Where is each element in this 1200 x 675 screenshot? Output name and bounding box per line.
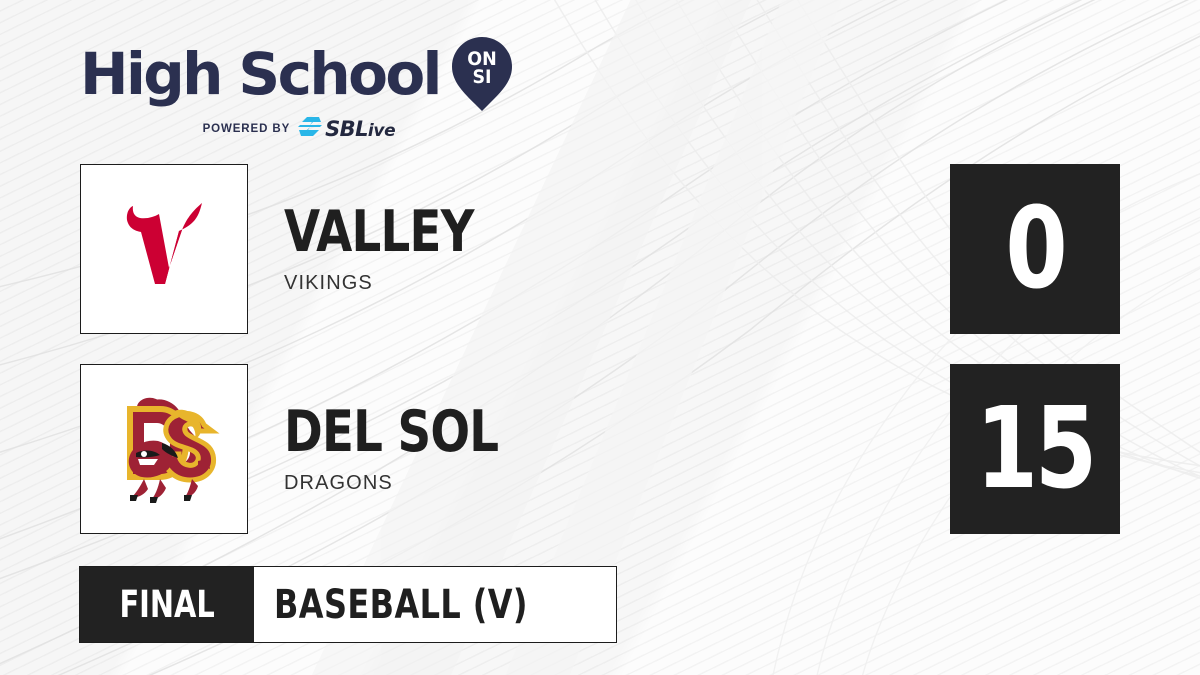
team-text-block: VALLEY VIKINGS: [284, 204, 515, 295]
game-status-bar: FINAL BASEBALL (V): [79, 566, 617, 643]
team-score-box: 0: [950, 164, 1120, 334]
team-row: VALLEY VIKINGS: [80, 164, 515, 334]
logo-row: High School ON SI: [80, 36, 510, 112]
sblive-soft: ive: [368, 121, 396, 141]
team-logo-card: [80, 364, 248, 534]
team-text-block: DEL SOL DRAGONS: [284, 404, 545, 495]
sblive-lockup: SBLive: [298, 116, 395, 142]
status-badge-label: FINAL: [119, 583, 214, 626]
sblive-s-mark-icon: [298, 116, 322, 142]
del-sol-dragons-ds-dragon-icon: [100, 385, 228, 513]
team-score-box: 15: [950, 364, 1120, 534]
high-school-on-si-logo: High School ON SI POWERED BY SBLive: [80, 36, 510, 139]
powered-by-label: POWERED BY: [203, 123, 291, 135]
sblive-wordmark: SBLive: [325, 119, 395, 140]
scoreboard-graphic: High School ON SI POWERED BY SBLive: [0, 0, 1200, 675]
valley-vikings-v-horns-icon: [99, 184, 229, 314]
team-name: VALLEY: [284, 204, 474, 261]
team-logo-card: [80, 164, 248, 334]
team-name: DEL SOL: [284, 404, 498, 461]
team-mascot: VIKINGS: [284, 272, 515, 295]
svg-text:SI: SI: [472, 66, 491, 88]
status-badge: FINAL: [80, 567, 254, 642]
sport-label-panel: BASEBALL (V): [254, 567, 615, 642]
sblive-bold: SBL: [325, 117, 368, 141]
team-mascot: DRAGONS: [284, 472, 545, 495]
powered-by-sblive: POWERED BY SBLive: [88, 119, 510, 139]
team-score: 15: [976, 393, 1094, 505]
sport-label: BASEBALL (V): [274, 582, 528, 628]
team-score: 0: [1005, 193, 1064, 305]
on-si-pin-icon: ON SI: [450, 36, 514, 112]
brand-wordmark: High School: [80, 47, 440, 102]
team-row: DEL SOL DRAGONS: [80, 364, 545, 534]
